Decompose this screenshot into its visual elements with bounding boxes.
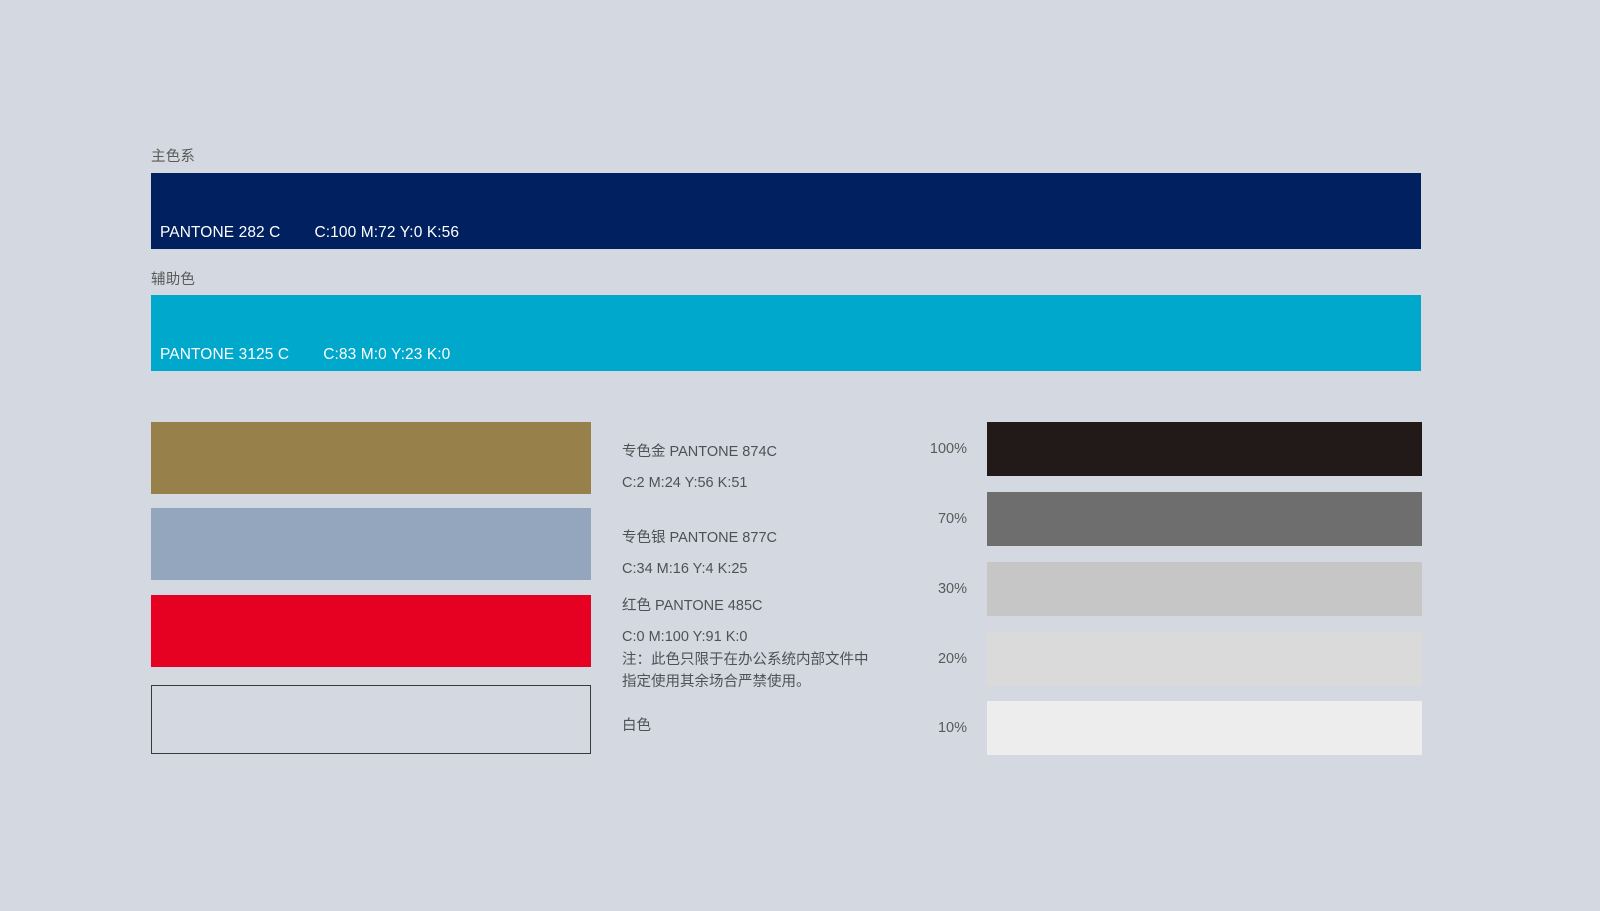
spot-color-description-silver: 专色银 PANTONE 877C C:34 M:16 Y:4 K:25	[622, 527, 777, 581]
tint-percent-label-20: 20%	[930, 632, 967, 686]
tint-chip-10	[987, 701, 1422, 755]
secondary-cmyk-value: C:83 M:0 Y:23 K:0	[323, 346, 450, 364]
spot-color-swatch-red	[151, 595, 591, 667]
tint-row-100: 100%	[930, 422, 1422, 476]
spot-color-description-red: 红色 PANTONE 485C C:0 M:100 Y:91 K:0 注：此色只…	[622, 595, 869, 693]
primary-color-label: PANTONE 282 CC:100 M:72 Y:0 K:56	[160, 224, 459, 242]
secondary-pantone-code: PANTONE 3125 C	[160, 346, 289, 363]
tint-chip-30	[987, 562, 1422, 616]
tint-chip-20	[987, 632, 1422, 686]
tint-percent-label-100: 100%	[930, 422, 967, 476]
secondary-color-caption: 辅助色	[151, 273, 195, 288]
spot-color-title-white: 白色	[622, 715, 651, 738]
tint-row-70: 70%	[930, 492, 1422, 546]
tint-percent-label-10: 10%	[930, 701, 967, 755]
spot-color-cmyk-gold: C:2 M:24 Y:56 K:51	[622, 472, 777, 495]
spot-color-cmyk-silver: C:34 M:16 Y:4 K:25	[622, 558, 777, 581]
spot-color-title-red: 红色 PANTONE 485C	[622, 595, 869, 618]
tint-row-30: 30%	[930, 562, 1422, 616]
spot-color-cmyk-red: C:0 M:100 Y:91 K:0	[622, 626, 869, 649]
spot-color-description-white: 白色	[622, 715, 651, 746]
spot-color-swatch-white	[151, 685, 591, 754]
primary-cmyk-value: C:100 M:72 Y:0 K:56	[314, 224, 459, 242]
spot-color-description-gold: 专色金 PANTONE 874C C:2 M:24 Y:56 K:51	[622, 441, 777, 495]
spot-color-title-gold: 专色金 PANTONE 874C	[622, 441, 777, 464]
secondary-color-swatch: PANTONE 3125 CC:83 M:0 Y:23 K:0	[151, 295, 1421, 371]
spot-color-swatch-gold	[151, 422, 591, 494]
primary-color-swatch: PANTONE 282 CC:100 M:72 Y:0 K:56	[151, 173, 1421, 249]
tint-chip-70	[987, 492, 1422, 546]
spot-color-usage-note-line2: 指定使用其余场合严禁使用。	[622, 671, 869, 693]
tint-chip-100	[987, 422, 1422, 476]
primary-pantone-code: PANTONE 282 C	[160, 224, 280, 241]
color-specification-page: 主色系 PANTONE 282 CC:100 M:72 Y:0 K:56 辅助色…	[0, 0, 1600, 911]
spot-color-title-silver: 专色银 PANTONE 877C	[622, 527, 777, 550]
spot-color-usage-note-line1: 注：此色只限于在办公系统内部文件中	[622, 649, 869, 671]
tint-percent-label-30: 30%	[930, 562, 967, 616]
spot-color-swatch-silver	[151, 508, 591, 580]
primary-color-caption: 主色系	[151, 150, 195, 165]
tint-row-10: 10%	[930, 701, 1422, 755]
secondary-color-label: PANTONE 3125 CC:83 M:0 Y:23 K:0	[160, 346, 450, 364]
tint-percent-label-70: 70%	[930, 492, 967, 546]
tint-row-20: 20%	[930, 632, 1422, 686]
